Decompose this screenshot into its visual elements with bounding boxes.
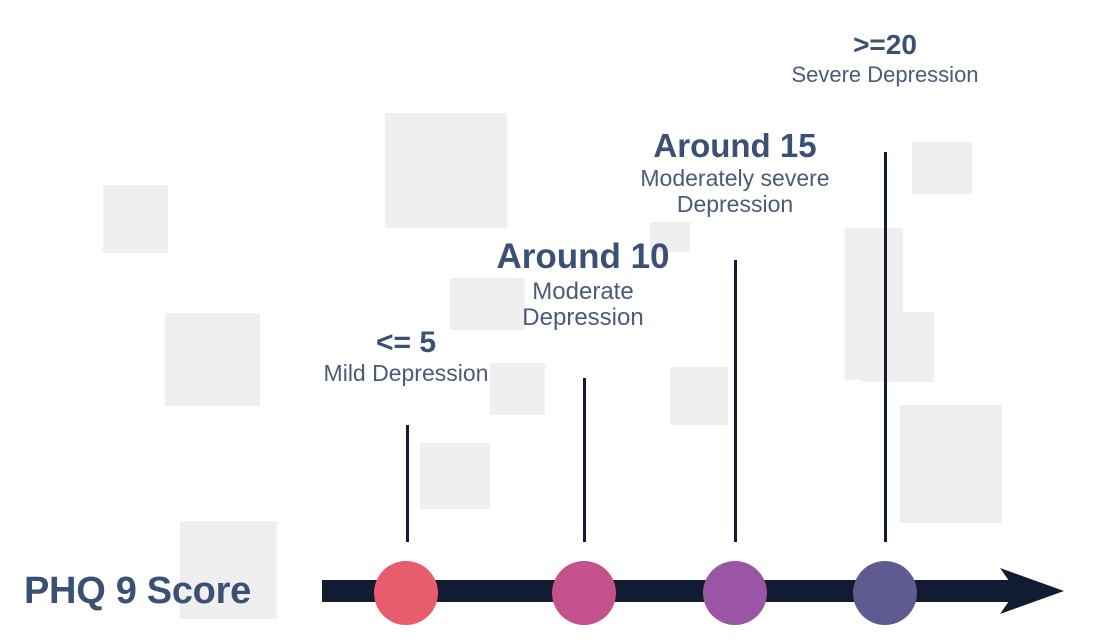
milestone-desc-1-line2: Depression <box>433 305 733 332</box>
milestone-label-0: <= 5 Mild Depression <box>256 326 556 387</box>
milestone-desc-2-line1: Moderately severe <box>551 166 919 192</box>
milestone-label-1: Around 10 Moderate Depression <box>433 238 733 332</box>
decorative-square <box>165 313 260 406</box>
milestone-desc-3: Severe Depression <box>735 63 1035 88</box>
milestone-desc-2-line2: Depression <box>551 192 919 218</box>
connector-line-2 <box>734 260 737 542</box>
decorative-square <box>900 405 1002 523</box>
decorative-square <box>862 312 934 382</box>
milestone-desc-1-line1: Moderate <box>433 279 733 306</box>
decorative-square <box>103 185 168 253</box>
decorative-square <box>670 367 728 425</box>
milestone-dot-0[interactable] <box>374 561 438 625</box>
milestone-dot-2[interactable] <box>703 561 767 625</box>
connector-line-0 <box>406 425 409 542</box>
right-arrow-icon <box>996 558 1068 624</box>
axis-title: PHQ 9 Score <box>24 570 251 613</box>
decorative-square <box>845 228 903 380</box>
milestone-label-3: >=20 Severe Depression <box>735 30 1035 87</box>
milestone-score-2: Around 15 <box>551 128 919 164</box>
milestone-score-3: >=20 <box>735 30 1035 61</box>
milestone-score-1: Around 10 <box>433 238 733 277</box>
decorative-square <box>385 113 507 228</box>
connector-line-1 <box>583 378 586 542</box>
milestone-label-2: Around 15 Moderately severe Depression <box>551 128 919 218</box>
milestone-dot-1[interactable] <box>552 561 616 625</box>
infographic-canvas: PHQ 9 Score <= 5 Mild Depression Around … <box>0 0 1098 644</box>
milestone-desc-0: Mild Depression <box>256 361 556 387</box>
decorative-square <box>912 142 972 194</box>
milestone-dot-3[interactable] <box>853 561 917 625</box>
decorative-square <box>420 443 490 509</box>
